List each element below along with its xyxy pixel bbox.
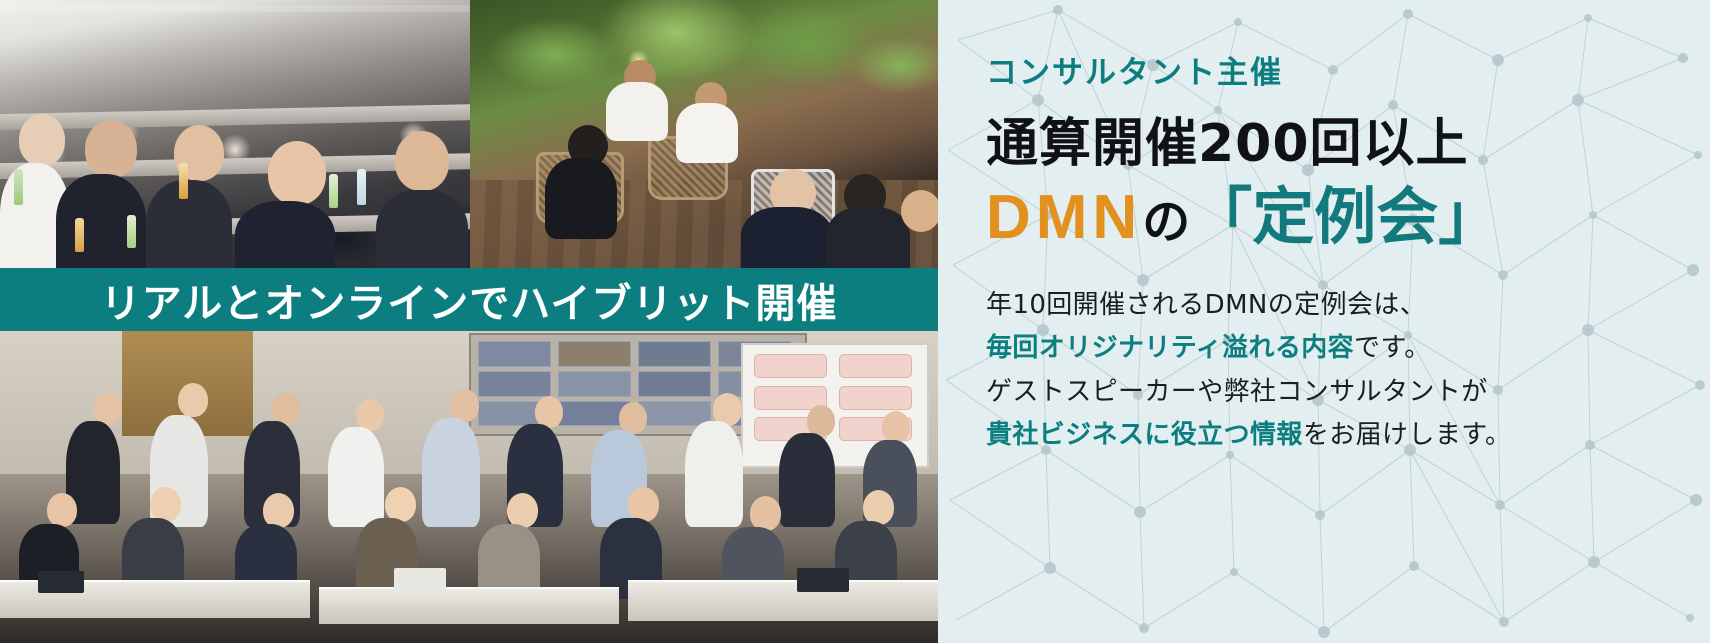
body-line: 毎回オリジナリティ溢れる内容です。 <box>986 327 1710 370</box>
kicker-text: コンサルタント主催 <box>986 58 1710 89</box>
body-line: ゲストスピーカーや弊社コンサルタントが <box>986 371 1710 414</box>
body-highlight: 貴社ビジネスに役立つ情報 <box>986 420 1303 450</box>
body-plain: ゲストスピーカーや弊社コンサルタントが <box>986 377 1488 407</box>
body-highlight: 毎回オリジナリティ溢れる内容 <box>986 333 1354 363</box>
outdoor-networking-photo <box>470 0 938 272</box>
hybrid-group-photo <box>0 330 938 643</box>
body-line: 貴社ビジネスに役立つ情報をお届けします。 <box>986 414 1710 457</box>
photo-collage: リアルとオンラインでハイブリット開催 <box>0 0 938 643</box>
hybrid-band-text: リアルとオンラインでハイブリット開催 <box>101 271 838 329</box>
seminar-audience-photo <box>0 0 470 272</box>
message-panel: コンサルタント主催 通算開催200回以上 DMNの「定例会」 年10回開催される… <box>938 0 1710 643</box>
dmn-seminar-banner: リアルとオンラインでハイブリット開催 <box>0 0 1710 643</box>
body-plain: をお届けします。 <box>1303 420 1512 450</box>
headline-primary: 通算開催200回以上 <box>986 117 1710 172</box>
quoted-teireikai: 「定例会」 <box>1190 180 1500 253</box>
body-line: 年10回開催されるDMNの定例会は、 <box>986 284 1710 327</box>
body-copy: 年10回開催されるDMNの定例会は、 毎回オリジナリティ溢れる内容です。 ゲスト… <box>986 284 1710 457</box>
headline-secondary: DMNの「定例会」 <box>986 184 1710 250</box>
hybrid-event-band: リアルとオンラインでハイブリット開催 <box>0 268 938 331</box>
brand-name-dmn: DMN <box>986 183 1142 252</box>
body-plain: です。 <box>1354 333 1431 363</box>
particle-no: の <box>1142 194 1190 250</box>
body-plain: 年10回開催されるDMNの定例会は、 <box>986 290 1426 320</box>
